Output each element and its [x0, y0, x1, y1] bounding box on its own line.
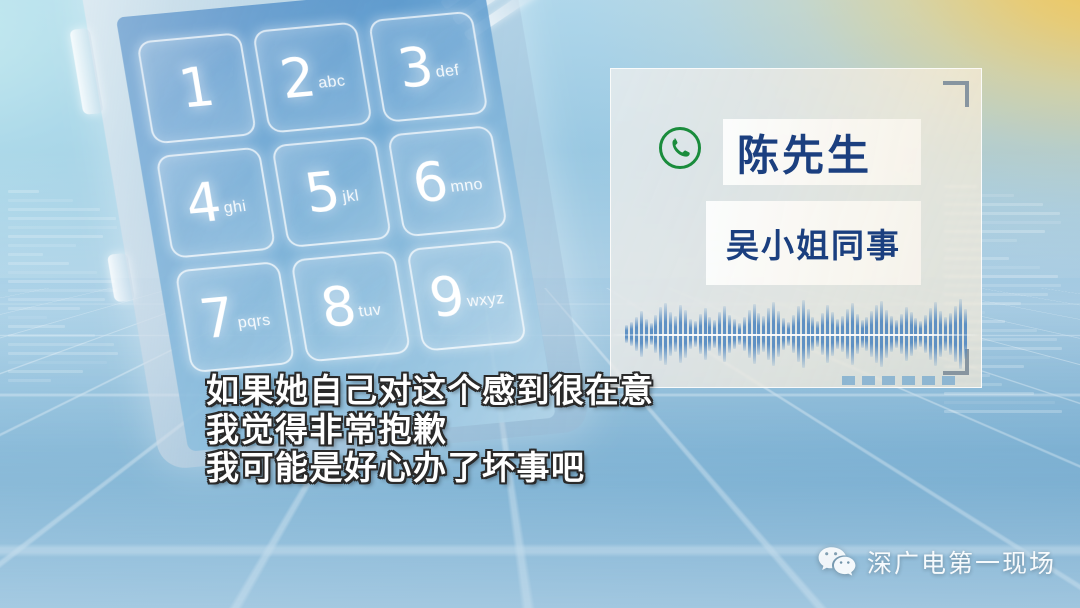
broadcast-frame: 12abc3def4ghi5jkl6mno7pqrs8tuv9wxyz 陈先生 … — [0, 0, 1080, 608]
waveform-dash — [862, 376, 875, 385]
watermark-label: 深广电第一现场 — [867, 544, 1056, 580]
phone-handset-circle-icon — [659, 127, 701, 169]
keypad-letters: mno — [449, 176, 486, 206]
caller-name: 陈先生 — [737, 122, 872, 183]
channel-watermark: 深广电第一现场 — [817, 544, 1056, 580]
audio-waveform — [625, 297, 967, 371]
waveform-dash — [942, 376, 955, 385]
keypad-digit: 1 — [175, 62, 218, 114]
keypad-key-1[interactable]: 1 — [136, 32, 257, 144]
subtitle-line: 我觉得非常抱歉 — [206, 411, 846, 450]
keypad-digit: 6 — [409, 157, 452, 209]
keypad-key-2[interactable]: 2abc — [252, 21, 373, 133]
waveform-dash — [902, 376, 915, 385]
keypad-digit: 4 — [182, 178, 225, 230]
subtitle-line: 我可能是好心办了坏事吧 — [206, 449, 846, 488]
keypad-letters: tuv — [357, 301, 384, 330]
caller-name-band: 陈先生 — [723, 119, 921, 185]
waveform-dash-markers — [842, 376, 955, 385]
keypad-letters: abc — [317, 72, 348, 101]
keypad-digit: 7 — [196, 293, 239, 345]
keypad-key-7[interactable]: 7pqrs — [174, 261, 295, 373]
keypad-digit: 2 — [277, 53, 320, 105]
phone-keypad: 12abc3def4ghi5jkl6mno7pqrs8tuv9wxyz — [136, 11, 527, 374]
keypad-letters: pqrs — [236, 312, 273, 342]
keypad-key-6[interactable]: 6mno — [387, 125, 508, 237]
keypad-key-3[interactable]: 3def — [368, 11, 489, 123]
keypad-letters: wxyz — [466, 290, 508, 320]
waveform-center-line — [611, 334, 981, 336]
keypad-key-5[interactable]: 5jkl — [271, 136, 392, 248]
keypad-key-8[interactable]: 8tuv — [290, 250, 411, 362]
keypad-digit: 5 — [301, 167, 344, 219]
caller-info-panel: 陈先生 吴小姐同事 — [610, 68, 982, 388]
keypad-letters: ghi — [222, 198, 249, 227]
keypad-key-9[interactable]: 9wxyz — [406, 239, 527, 351]
keypad-letters: jkl — [341, 187, 362, 215]
wechat-icon — [817, 545, 857, 579]
keypad-digit: 3 — [394, 42, 437, 94]
subtitle-block: 如果她自己对这个感到很在意我觉得非常抱歉我可能是好心办了坏事吧 — [206, 372, 846, 488]
keypad-letters: def — [434, 62, 462, 91]
panel-corner-top-right — [943, 81, 969, 107]
waveform-dash — [922, 376, 935, 385]
caller-role: 吴小姐同事 — [726, 219, 901, 267]
subtitle-line: 如果她自己对这个感到很在意 — [206, 372, 846, 411]
keypad-digit: 8 — [317, 281, 360, 333]
caller-role-band: 吴小姐同事 — [706, 201, 921, 285]
keypad-key-4[interactable]: 4ghi — [155, 147, 276, 259]
keypad-digit: 9 — [426, 271, 469, 323]
waveform-dash — [882, 376, 895, 385]
